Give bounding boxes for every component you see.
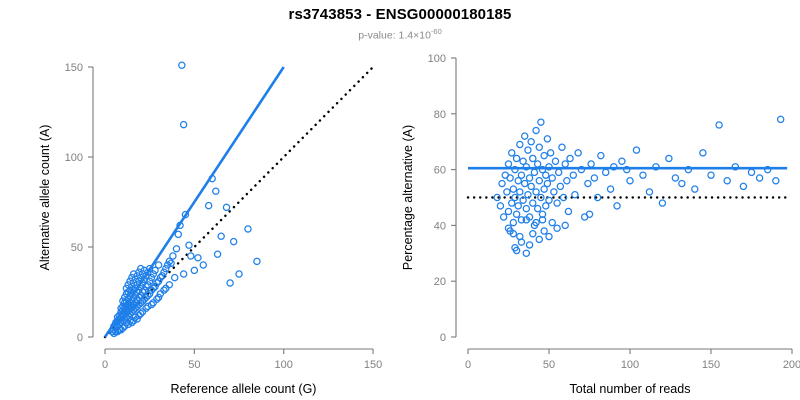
data-point xyxy=(538,119,544,125)
data-point xyxy=(562,222,568,228)
y-tick-label: 100 xyxy=(65,152,83,164)
data-point xyxy=(156,262,162,268)
data-point xyxy=(585,180,591,186)
data-point xyxy=(603,169,609,175)
y-axis-title: Percentage alternative (A) xyxy=(401,125,415,270)
x-tick-label: 150 xyxy=(702,359,720,371)
data-point xyxy=(692,186,698,192)
scatter-plot-left: 050100150050100150Reference allele count… xyxy=(0,0,400,400)
x-tick-label: 50 xyxy=(188,359,200,371)
data-point xyxy=(505,208,511,214)
data-point xyxy=(173,246,179,252)
data-point xyxy=(567,155,573,161)
data-point xyxy=(528,139,534,145)
data-point xyxy=(614,203,620,209)
data-point xyxy=(598,153,604,159)
data-point xyxy=(223,204,229,210)
data-point xyxy=(640,172,646,178)
data-point xyxy=(716,122,722,128)
data-point xyxy=(206,203,212,209)
data-point xyxy=(544,136,550,142)
data-point xyxy=(507,175,513,181)
data-point xyxy=(757,175,763,181)
data-point xyxy=(619,158,625,164)
fit-line xyxy=(105,67,284,337)
data-point xyxy=(254,258,260,264)
data-point xyxy=(552,158,558,164)
data-point xyxy=(517,233,523,239)
data-point xyxy=(533,189,539,195)
data-point xyxy=(522,133,528,139)
data-point xyxy=(586,211,592,217)
data-point xyxy=(531,169,537,175)
data-point xyxy=(504,189,510,195)
data-point xyxy=(181,122,187,128)
data-point xyxy=(607,186,613,192)
data-point xyxy=(549,220,555,226)
panel-allele-counts: 050100150050100150Reference allele count… xyxy=(0,0,400,400)
data-point xyxy=(536,236,542,242)
data-point xyxy=(773,178,779,184)
data-point xyxy=(227,280,233,286)
data-point xyxy=(546,197,552,203)
data-point xyxy=(525,147,531,153)
data-point xyxy=(646,189,652,195)
data-point xyxy=(659,200,665,206)
data-point xyxy=(551,189,557,195)
data-point xyxy=(200,262,206,268)
data-point xyxy=(191,267,197,273)
data-point xyxy=(170,253,176,259)
panel-percentage-alternative: 020406080100050100150200Total number of … xyxy=(400,0,800,400)
y-tick-label: 150 xyxy=(65,62,83,74)
data-point xyxy=(514,211,520,217)
data-point xyxy=(679,180,685,186)
data-point xyxy=(541,228,547,234)
y-tick-label: 0 xyxy=(440,332,446,344)
data-point xyxy=(526,175,532,181)
data-point xyxy=(510,220,516,226)
data-point xyxy=(535,161,541,167)
x-tick-label: 100 xyxy=(275,359,293,371)
data-point xyxy=(633,147,639,153)
data-point xyxy=(499,180,505,186)
y-tick-label: 60 xyxy=(434,165,446,177)
y-tick-label: 50 xyxy=(71,242,83,254)
data-point xyxy=(740,183,746,189)
data-point xyxy=(186,242,192,248)
data-point xyxy=(543,172,549,178)
data-point xyxy=(523,250,529,256)
data-point xyxy=(559,144,565,150)
data-point xyxy=(518,172,524,178)
data-point xyxy=(557,183,563,189)
data-point xyxy=(175,231,181,237)
data-point xyxy=(236,271,242,277)
y-tick-label: 100 xyxy=(428,53,446,65)
data-point xyxy=(535,206,541,212)
data-point xyxy=(213,188,219,194)
data-point xyxy=(533,127,539,133)
data-point xyxy=(195,255,201,261)
y-tick-label: 40 xyxy=(434,220,446,232)
data-point xyxy=(548,150,554,156)
data-point xyxy=(505,161,511,167)
data-point xyxy=(541,153,547,159)
x-tick-label: 200 xyxy=(783,359,800,371)
data-point xyxy=(522,180,528,186)
data-point xyxy=(544,180,550,186)
x-axis-title: Reference allele count (G) xyxy=(171,382,317,396)
data-point xyxy=(525,192,531,198)
data-point xyxy=(166,282,172,288)
data-point xyxy=(588,161,594,167)
x-tick-label: 0 xyxy=(465,359,471,371)
data-point xyxy=(554,225,560,231)
data-point xyxy=(546,233,552,239)
chart-page: rs3743853 - ENSG00000180185 p-value: 1.4… xyxy=(0,0,800,400)
data-point xyxy=(509,150,515,156)
data-point xyxy=(515,203,521,209)
x-tick-label: 50 xyxy=(543,359,555,371)
x-tick-label: 150 xyxy=(364,359,382,371)
x-tick-label: 0 xyxy=(102,359,108,371)
data-point xyxy=(530,200,536,206)
data-point xyxy=(570,172,576,178)
data-point xyxy=(575,150,581,156)
data-point xyxy=(778,116,784,122)
data-point xyxy=(627,178,633,184)
y-tick-label: 0 xyxy=(77,332,83,344)
data-point xyxy=(672,175,678,181)
data-point xyxy=(549,175,555,181)
data-point xyxy=(172,275,178,281)
data-point xyxy=(536,144,542,150)
y-tick-label: 20 xyxy=(434,276,446,288)
data-point xyxy=(218,233,224,239)
data-point xyxy=(517,141,523,147)
data-point xyxy=(708,172,714,178)
data-point xyxy=(562,161,568,167)
data-point xyxy=(245,226,251,232)
data-point xyxy=(565,208,571,214)
data-point xyxy=(591,175,597,181)
data-point xyxy=(554,200,560,206)
data-point xyxy=(501,214,507,220)
data-point xyxy=(564,178,570,184)
data-point xyxy=(179,62,185,68)
scatter-plot-right: 020406080100050100150200Total number of … xyxy=(400,0,800,400)
data-point xyxy=(510,186,516,192)
data-point-group xyxy=(494,116,784,256)
data-point xyxy=(188,253,194,259)
data-point xyxy=(700,150,706,156)
y-tick-label: 80 xyxy=(434,109,446,121)
data-point xyxy=(530,231,536,237)
data-point xyxy=(666,155,672,161)
data-point xyxy=(517,189,523,195)
data-point xyxy=(556,169,562,175)
data-point xyxy=(181,271,187,277)
data-point xyxy=(536,178,542,184)
data-point xyxy=(572,192,578,198)
x-axis-title: Total number of reads xyxy=(570,382,691,396)
data-point xyxy=(530,155,536,161)
data-point xyxy=(724,178,730,184)
data-point xyxy=(523,206,529,212)
x-tick-label: 100 xyxy=(621,359,639,371)
data-point xyxy=(526,242,532,248)
data-point xyxy=(497,203,503,209)
data-point xyxy=(231,239,237,245)
data-point xyxy=(748,169,754,175)
data-point xyxy=(528,183,534,189)
data-point xyxy=(214,251,220,257)
y-axis-title: Alternative allele count (A) xyxy=(38,125,52,271)
data-point xyxy=(514,155,520,161)
